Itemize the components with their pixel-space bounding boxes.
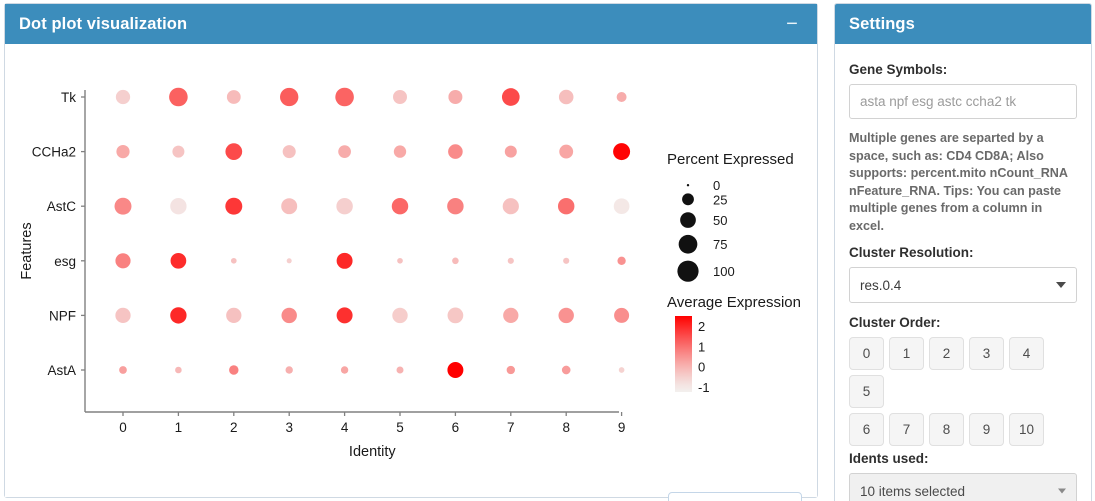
dot-plot-point [336,198,352,214]
color-legend-tick-label: 1 [698,339,705,354]
dot-plot-point [116,145,129,158]
x-axis-title: Identity [349,444,396,460]
dot-plot-point [283,145,296,158]
cluster-order-list[interactable]: 012345678910 [849,337,1077,446]
settings-body: Gene Symbols: asta npf esg astc ccha2 tk… [835,44,1091,501]
y-axis-tick-label: NPF [49,308,76,323]
dot-plot-point [393,90,407,104]
x-axis-tick-label: 6 [452,420,460,435]
cluster-resolution-select[interactable]: res.0.4 [849,267,1077,303]
size-legend-label: 75 [713,237,727,252]
dot-plot-point [563,258,569,264]
dot-plot-point [397,258,403,264]
dot-plot-chart: TkCCHa2AstCesgNPFAstA0123456789IdentityF… [5,44,817,497]
idents-used-label: Idents used: [849,451,1077,466]
y-axis-tick-label: CCHa2 [32,145,76,160]
app-root: Dot plot visualization − TkCCHa2AstCesgN… [0,0,1095,501]
dot-plot-point [448,90,462,104]
size-legend-dot [687,184,689,186]
cluster-order-chip[interactable]: 0 [849,337,884,370]
dot-plot-point [507,366,515,374]
dot-plot-point [619,367,625,373]
dot-plot-point [335,88,354,107]
dot-plot-point [508,258,514,264]
color-legend-tick-label: 2 [698,319,705,334]
cluster-order-row: 012345 [849,337,1077,408]
dot-plot-point [171,253,187,269]
dot-plot-point [231,258,237,264]
dot-plot-point [392,308,407,323]
idents-used-value: 10 items selected [860,484,965,499]
x-axis-tick-label: 5 [396,420,404,435]
dot-plot-point [170,198,186,214]
dot-plot-point [115,308,130,323]
cluster-order-chip[interactable]: 9 [969,413,1004,446]
download-button[interactable]: Download [668,492,802,501]
cluster-order-chip[interactable]: 10 [1009,413,1044,446]
cluster-order-chip[interactable]: 8 [929,413,964,446]
dot-plot-point [172,146,184,158]
dot-plot-point [447,198,463,214]
settings-title: Settings [849,15,1077,34]
dot-plot-point [559,90,574,105]
dot-plot-point [613,143,630,160]
dot-plot-point [617,257,625,265]
minimize-icon[interactable]: − [781,13,803,35]
size-legend-dot [679,235,698,254]
cluster-order-chip[interactable]: 5 [849,375,884,408]
dot-plot-point [341,366,348,373]
page-title: Dot plot visualization [19,15,781,34]
y-axis-tick-label: esg [54,254,76,269]
dot-plot-point [502,88,520,106]
dot-plot-point [562,366,571,375]
dot-plot-panel-header: Dot plot visualization − [5,4,817,44]
dot-plot-point [287,258,292,263]
dot-plot-point [503,308,518,323]
dot-plot-point [558,308,573,323]
dot-plot-point [617,92,627,102]
dot-plot-point [170,307,186,323]
size-legend-title: Percent Expressed [667,151,794,168]
size-legend-label: 50 [713,213,727,228]
cluster-resolution-label: Cluster Resolution: [849,245,1077,260]
settings-panel-header: Settings [835,4,1091,44]
size-legend-dot [682,193,694,205]
dot-plot-point [337,307,353,323]
dot-plot-point [229,365,238,374]
x-axis-tick-label: 0 [119,420,127,435]
dot-plot-point [394,145,406,157]
x-axis-tick-label: 9 [618,420,626,435]
dot-plot-point [227,90,241,104]
color-legend-tick-label: -1 [698,380,710,395]
y-axis-tick-label: Tk [61,90,76,105]
color-legend-tick-label: 0 [698,360,705,375]
size-legend-label: 0 [713,178,720,193]
dot-plot-point [392,198,408,214]
size-legend-dot [680,212,696,228]
dot-plot-point [503,198,519,214]
dot-plot-point [559,145,573,159]
size-legend-label: 25 [713,192,727,207]
dot-plot-point [281,198,297,214]
x-axis-tick-label: 8 [562,420,570,435]
dot-plot-point [115,253,130,268]
dot-plot-point [281,308,296,323]
cluster-order-chip[interactable]: 1 [889,337,924,370]
dot-plot-point [447,362,463,378]
dot-plot-point [397,367,404,374]
chevron-down-icon [1056,282,1066,288]
chevron-down-icon [1058,489,1066,494]
cluster-order-chip[interactable]: 2 [929,337,964,370]
dot-plot-point [169,88,188,107]
x-axis-tick-label: 7 [507,420,515,435]
dot-plot-point [338,145,351,158]
dot-plot-point [614,308,629,323]
dot-plot-point [558,198,574,214]
color-legend-bar [675,316,692,392]
settings-panel: Settings Gene Symbols: asta npf esg astc… [834,3,1092,501]
dot-plot-point [226,308,241,323]
cluster-order-chip[interactable]: 6 [849,413,884,446]
x-axis-tick-label: 1 [175,420,183,435]
color-legend-title: Average Expression [667,294,801,311]
size-legend-label: 100 [713,264,735,279]
dot-plot-point [452,258,459,265]
dot-plot-point [225,198,242,215]
dot-plot-point [448,308,464,324]
x-axis-tick-label: 2 [230,420,238,435]
dot-plot-point [614,198,630,214]
dot-plot-point [286,366,293,373]
x-axis-tick-label: 4 [341,420,349,435]
cluster-order-row: 678910 [849,413,1077,446]
dot-plot-point [119,366,127,374]
dot-plot-panel: Dot plot visualization − TkCCHa2AstCesgN… [4,3,818,498]
cluster-order-chip[interactable]: 7 [889,413,924,446]
dot-plot-point [116,90,130,104]
dot-plot-point [448,144,463,159]
y-axis-tick-label: AstC [47,199,77,214]
y-axis-title: Features [19,222,35,279]
y-axis-tick-label: AstA [47,363,76,378]
gene-symbols-input[interactable]: asta npf esg astc ccha2 tk [849,84,1077,119]
dot-plot-point [115,198,132,215]
size-legend-dot [677,261,698,282]
cluster-resolution-value: res.0.4 [860,278,901,293]
dot-plot-point [280,88,298,106]
gene-symbols-label: Gene Symbols: [849,62,1077,77]
dot-plot-body: TkCCHa2AstCesgNPFAstA0123456789IdentityF… [5,44,817,497]
dot-plot-point [225,143,242,160]
cluster-order-chip[interactable]: 4 [1009,337,1044,370]
cluster-order-label: Cluster Order: [849,315,1077,330]
gene-symbols-help-text: Multiple genes are separted by a space, … [849,130,1077,235]
x-axis-tick-label: 3 [285,420,293,435]
cluster-order-chip[interactable]: 3 [969,337,1004,370]
dot-plot-point [337,253,353,269]
idents-used-select[interactable]: 10 items selected [849,473,1077,501]
dot-plot-point [175,367,182,374]
dot-plot-point [505,146,517,158]
